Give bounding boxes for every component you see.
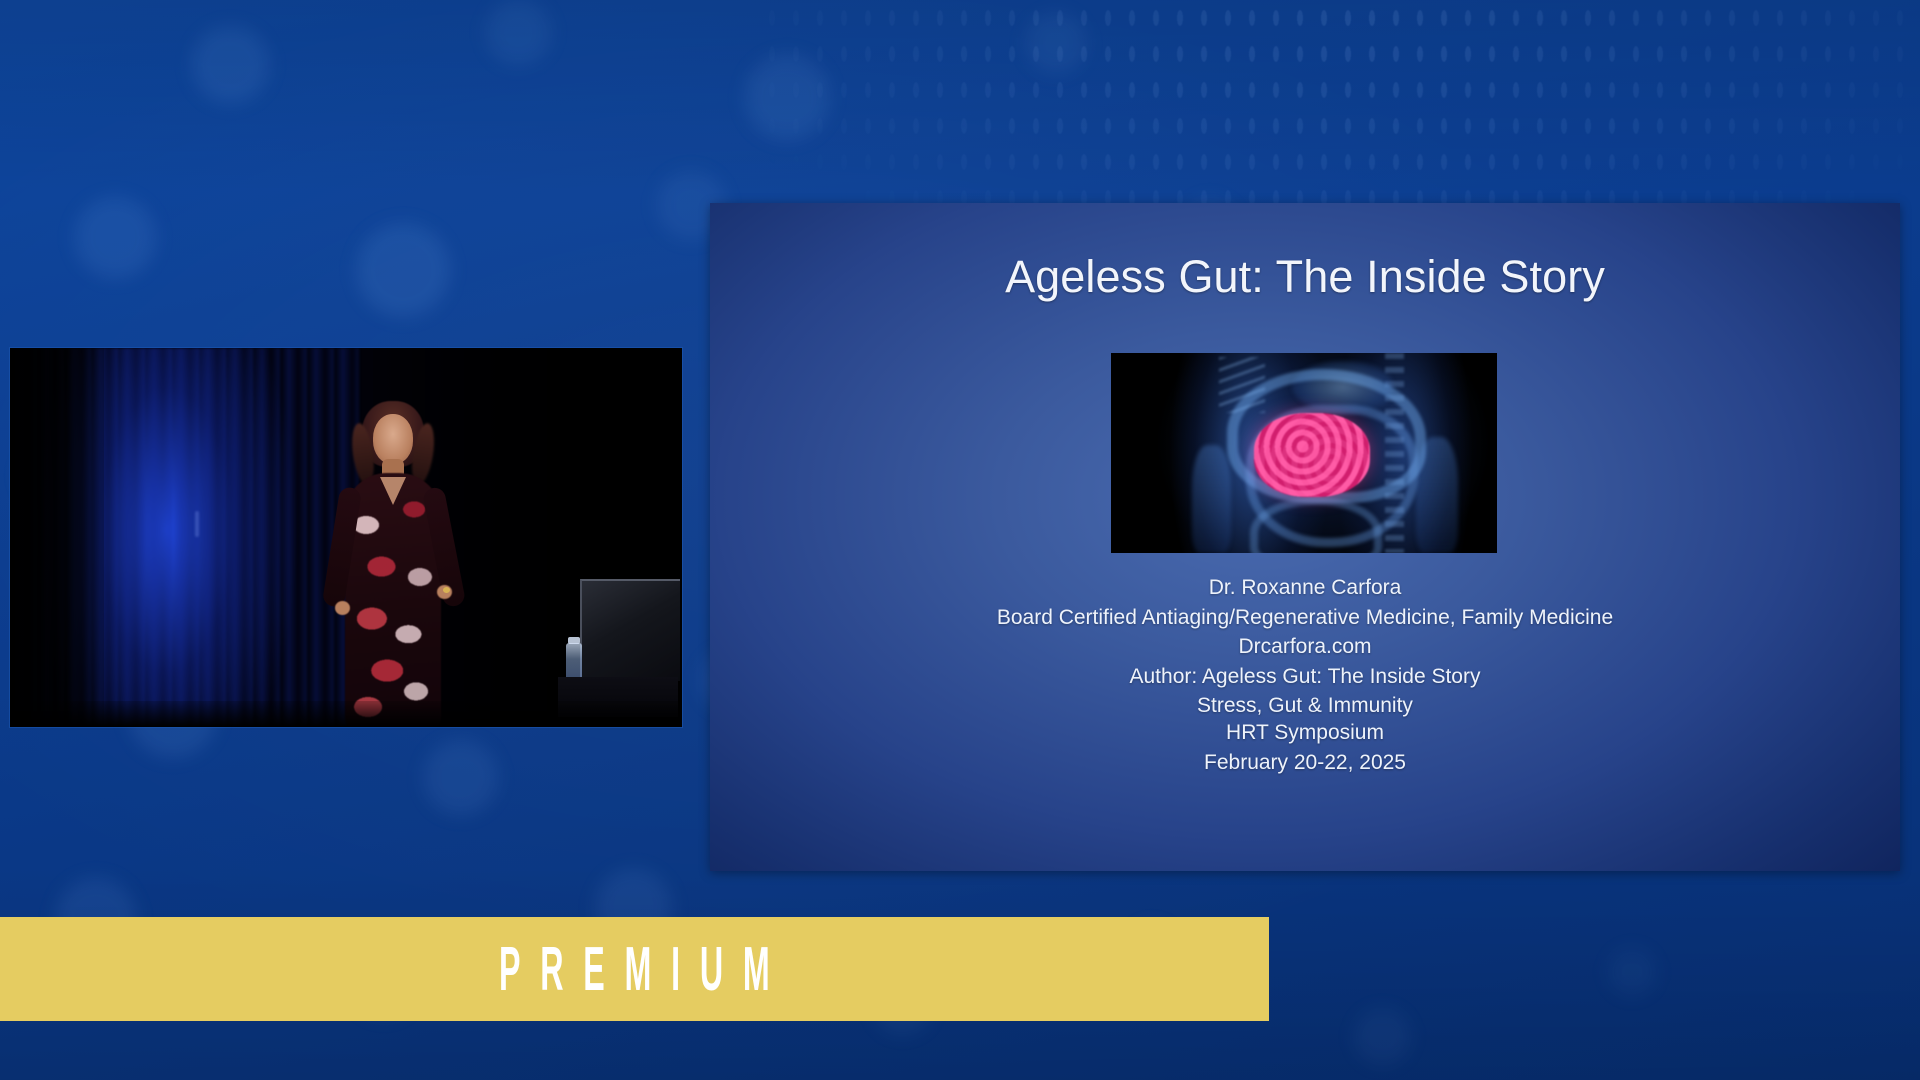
premium-banner: PREMIUM (0, 917, 1269, 1021)
premium-label: PREMIUM (479, 934, 789, 1005)
credit-line: Dr. Roxanne Carfora (710, 573, 1900, 603)
curtain-seam (195, 511, 199, 537)
event-name: HRT Symposium (710, 718, 1900, 748)
speaker-video[interactable] (10, 348, 682, 727)
credit-line: Author: Ageless Gut: The Inside Story (710, 662, 1900, 692)
stage-floor (10, 701, 682, 727)
slide-title: Ageless Gut: The Inside Story (1005, 251, 1605, 303)
presentation-viewer: Ageless Gut: The Inside Story Dr. Roxann… (0, 0, 1920, 1080)
small-intestine-highlight (1254, 413, 1370, 497)
presenter-neckline (380, 477, 406, 505)
credit-line: Drcarfora.com (710, 632, 1900, 662)
credit-line: Stress, Gut & Immunity (710, 691, 1900, 721)
event-dates: February 20-22, 2025 (710, 748, 1900, 778)
presenter-face (373, 414, 413, 464)
presenter-hand-left (335, 601, 350, 615)
digestive-system-image (1111, 353, 1497, 553)
credit-line: Board Certified Antiaging/Regenerative M… (710, 603, 1900, 633)
event-block: HRT Symposium February 20-22, 2025 (710, 718, 1900, 777)
water-bottle-cap (568, 637, 580, 644)
presenter-figure (326, 401, 460, 727)
leg-left (1192, 445, 1231, 553)
laptop-icon (580, 579, 680, 681)
credits-block: Dr. Roxanne Carfora Board Certified Anti… (710, 573, 1900, 721)
slide-panel[interactable]: Ageless Gut: The Inside Story Dr. Roxann… (710, 203, 1900, 871)
curtain-shadow-left (10, 348, 104, 727)
